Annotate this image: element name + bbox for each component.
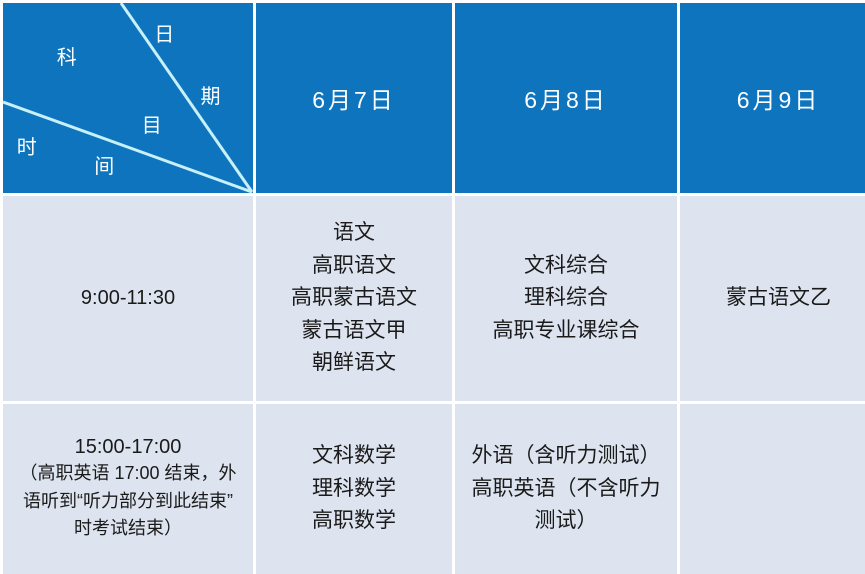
subject-item: 高职数学 [256, 505, 452, 538]
column-header-day-2: 6月8日 [455, 0, 680, 196]
corner-label-time-char2: 间 [94, 157, 114, 177]
table-row: 15:00-17:00 （高职英语 17:00 结束，外语听到“听力部分到此结束… [0, 404, 865, 574]
subject-item: 高职蒙古语文 [256, 282, 452, 315]
subject-item: 蒙古语文乙 [680, 282, 865, 315]
subject-cell-day3-morning: 蒙古语文乙 [680, 196, 865, 404]
subject-list: 文科数学 理科数学 高职数学 [256, 440, 452, 538]
date-header-label: 6月7日 [312, 87, 396, 113]
subject-item: 高职英语（不含听力测试） [455, 473, 677, 538]
time-slot-note: （高职英语 17:00 结束，外语听到“听力部分到此结束”时考试结束） [3, 460, 253, 544]
time-slot-cell-afternoon: 15:00-17:00 （高职英语 17:00 结束，外语听到“听力部分到此结束… [0, 404, 256, 574]
subject-item: 理科综合 [455, 282, 677, 315]
subject-item: 高职语文 [256, 250, 452, 283]
subject-item: 高职专业课综合 [455, 315, 677, 348]
subject-list: 文科综合 理科综合 高职专业课综合 [455, 250, 677, 348]
date-header-label: 6月9日 [737, 87, 821, 113]
subject-cell-day2-morning: 文科综合 理科综合 高职专业课综合 [455, 196, 680, 404]
corner-label-date-char1: 日 [154, 25, 174, 45]
subject-item: 文科数学 [256, 440, 452, 473]
subject-list: 外语（含听力测试） 高职英语（不含听力测试） [455, 440, 677, 538]
subject-item: 外语（含听力测试） [455, 440, 677, 473]
column-header-day-3: 6月9日 [680, 0, 865, 196]
subject-item: 理科数学 [256, 473, 452, 506]
time-slot-cell-morning: 9:00-11:30 [0, 196, 256, 404]
column-header-day-1: 6月7日 [256, 0, 455, 196]
table-header-row: 日 期 科 目 时 间 6月7日 6月8日 6月9日 [0, 0, 865, 196]
subject-list: 语文 高职语文 高职蒙古语文 蒙古语文甲 朝鲜语文 [256, 217, 452, 380]
subject-item: 语文 [256, 217, 452, 250]
subject-item: 朝鲜语文 [256, 347, 452, 380]
subject-list: 蒙古语文乙 [680, 282, 865, 315]
corner-label-subject-char1: 科 [57, 48, 77, 68]
corner-label-subject-char2: 目 [142, 116, 162, 136]
subject-item: 蒙古语文甲 [256, 315, 452, 348]
exam-schedule-table: 日 期 科 目 时 间 6月7日 6月8日 6月9日 9:00-11:30 [0, 0, 865, 574]
corner-label-date-char2: 期 [201, 87, 221, 107]
subject-cell-day2-afternoon: 外语（含听力测试） 高职英语（不含听力测试） [455, 404, 680, 574]
corner-label-time-char1: 时 [17, 138, 37, 158]
table-row: 9:00-11:30 语文 高职语文 高职蒙古语文 蒙古语文甲 朝鲜语文 文科综… [0, 196, 865, 404]
subject-cell-day1-morning: 语文 高职语文 高职蒙古语文 蒙古语文甲 朝鲜语文 [256, 196, 455, 404]
subject-cell-day3-afternoon [680, 404, 865, 574]
corner-split-header-cell: 日 期 科 目 时 间 [0, 0, 256, 196]
date-header-label: 6月8日 [524, 87, 608, 113]
subject-item: 文科综合 [455, 250, 677, 283]
time-slot-label: 15:00-17:00 [75, 436, 182, 458]
time-slot-label: 9:00-11:30 [81, 287, 175, 309]
subject-cell-day1-afternoon: 文科数学 理科数学 高职数学 [256, 404, 455, 574]
